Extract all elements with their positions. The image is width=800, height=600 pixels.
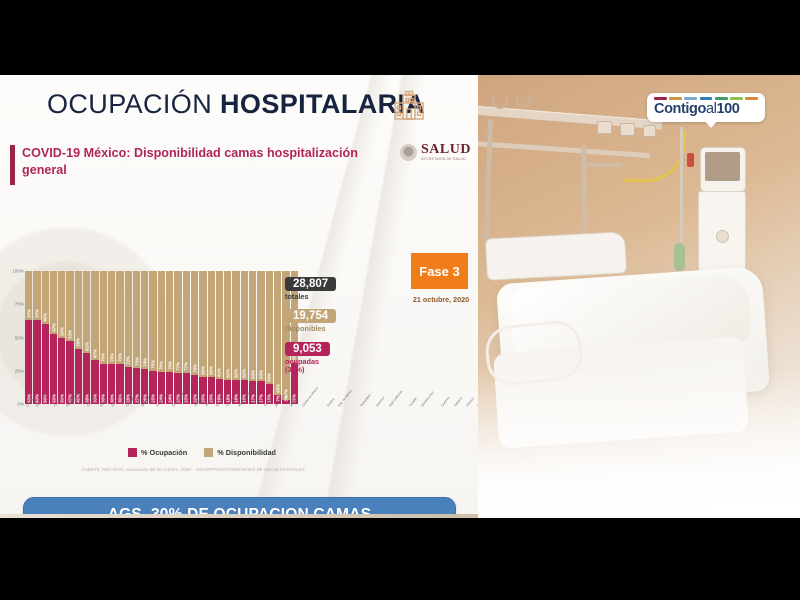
bar-segment-disponibilidad: 53%	[66, 271, 73, 341]
contigo-word-2: al	[706, 101, 717, 117]
bar-segment-disponibilidad: 77%	[183, 271, 190, 373]
chart-bar: 62%38%	[83, 271, 90, 404]
chart-source-note: FUENTE: RED IRAG, acumulado del 20 octub…	[82, 467, 412, 472]
photo-monitor-knob	[716, 230, 729, 243]
bar-label-disponibilidad: 82%	[234, 369, 239, 378]
photo-bed-headboard	[485, 231, 627, 280]
legend-swatch	[128, 448, 137, 457]
bar-label-disponibilidad: 81%	[217, 368, 222, 377]
logo-color-bar	[669, 97, 682, 100]
legend-label: % Disponibilidad	[217, 448, 276, 457]
photo-red-clip	[687, 153, 694, 167]
contigo-color-bars	[654, 97, 758, 100]
bar-segment-disponibilidad: 76%	[158, 271, 165, 372]
bar-segment-disponibilidad: 93%	[274, 271, 281, 395]
bar-segment-disponibilidad: 82%	[224, 271, 231, 380]
bar-label-disponibilidad: 78%	[192, 364, 197, 373]
bar-segment-disponibilidad: 73%	[133, 271, 140, 368]
bar-label-disponibilidad: 53%	[68, 331, 73, 340]
salud-logo: SALUD SECRETARÍA DE SALUD	[400, 143, 471, 161]
bar-label-disponibilidad: 77%	[184, 363, 189, 372]
bar-segment-disponibilidad: 82%	[232, 271, 239, 380]
status-badge-fase: Fase 3	[411, 253, 468, 289]
chart-bar: 40%60%	[42, 271, 49, 404]
bar-label-disponibilidad: 73%	[134, 357, 139, 366]
legend-label: % Ocupación	[141, 448, 187, 457]
bar-segment-disponibilidad: 37%	[33, 271, 40, 320]
logo-color-bar	[745, 97, 758, 100]
stat-value: 28,807	[285, 277, 336, 291]
bar-label-disponibilidad: 76%	[159, 361, 164, 370]
y-axis-tick: 0%	[17, 402, 24, 407]
bar-label-disponibilidad: 70%	[117, 353, 122, 362]
bar-segment-ocupacion: 63%	[33, 320, 40, 404]
logo-color-bar	[730, 97, 743, 100]
chart-y-axis: 0%25%50%75%100%	[8, 271, 25, 404]
chart-bar: 37%63%	[25, 271, 32, 404]
salud-name: SALUD	[421, 143, 471, 157]
chart-bar: 82%18%	[224, 271, 231, 404]
contigo-al-100-logo: Contigoal100	[647, 93, 765, 122]
chart-bar: 75%25%	[149, 271, 156, 404]
slide-date: 21 octubre, 2020	[406, 295, 476, 304]
chart-bar: 67%33%	[91, 271, 98, 404]
bar-label-disponibilidad: 76%	[167, 361, 172, 370]
bar-label-disponibilidad: 85%	[267, 373, 272, 382]
stat-callouts: 28,807totales19,754disponibles9,053ocupa…	[285, 274, 405, 380]
stat-totales: 28,807totales	[285, 274, 405, 301]
stat-value: 19,754	[285, 309, 336, 323]
screenshot-root: OCUPACIÓN HOSPITALARIA	[0, 0, 800, 600]
contigo-word-3: 100	[716, 101, 739, 117]
presentation-slide: OCUPACIÓN HOSPITALARIA	[0, 75, 478, 518]
y-axis-tick: 50%	[15, 335, 24, 340]
chart-bar: 50%50%	[58, 271, 65, 404]
bar-segment-disponibilidad: 81%	[216, 271, 223, 379]
chart-bar: 72%28%	[125, 271, 132, 404]
chart-bar: 77%23%	[174, 271, 181, 404]
bar-segment-disponibilidad: 62%	[83, 271, 90, 353]
bar-label-disponibilidad: 37%	[26, 309, 31, 318]
stat-caption: disponibles	[285, 325, 405, 333]
chart-bar: 70%30%	[116, 271, 123, 404]
mexico-emblem-icon	[400, 144, 417, 161]
contigo-wordmark: Contigoal100	[654, 102, 758, 117]
page-title: OCUPACIÓN HOSPITALARIA	[47, 89, 425, 120]
photo-green-bag	[674, 243, 685, 271]
bar-label-disponibilidad: 62%	[84, 343, 89, 352]
bar-segment-disponibilidad: 70%	[108, 271, 115, 364]
bar-segment-disponibilidad: 59%	[75, 271, 82, 349]
hospital-building-icon	[392, 89, 426, 128]
chart-legend: % Ocupación% Disponibilidad	[128, 448, 276, 457]
logo-color-bar	[654, 97, 667, 100]
chart-bar: 78%22%	[191, 271, 198, 404]
logo-color-bar	[700, 97, 713, 100]
chart-plot-area: 37%63%37%63%40%60%47%53%50%50%53%47%59%4…	[25, 271, 298, 404]
bar-segment-disponibilidad: 37%	[25, 271, 32, 320]
stat-disponibles: 19,754disponibles	[285, 306, 405, 333]
bar-segment-disponibilidad: 67%	[91, 271, 98, 360]
bar-segment-disponibilidad: 78%	[191, 271, 198, 375]
chart-bar: 70%30%	[108, 271, 115, 404]
logo-color-bar	[715, 97, 728, 100]
bar-segment-disponibilidad: 40%	[42, 271, 49, 324]
chart-bar: 81%19%	[216, 271, 223, 404]
chart: 0%25%50%75%100% 37%63%37%63%40%60%47%53%…	[8, 271, 298, 419]
slide-header: OCUPACIÓN HOSPITALARIA	[0, 75, 478, 137]
y-axis-tick: 75%	[15, 302, 24, 307]
chart-bar: 59%41%	[75, 271, 82, 404]
photo-monitor-screen	[705, 152, 740, 181]
bar-label-disponibilidad: 47%	[51, 323, 56, 332]
stat-ocupadas: 9,053ocupadas(31%)	[285, 339, 405, 375]
bar-segment-ocupacion: 50%	[58, 338, 65, 405]
chart-bar: 93%7%	[274, 271, 281, 404]
bar-segment-disponibilidad: 80%	[208, 271, 215, 377]
bar-label-disponibilidad: 50%	[59, 327, 64, 336]
chart-bar: 53%47%	[66, 271, 73, 404]
slide-footer-rule	[0, 514, 478, 518]
chart-bar: 76%24%	[158, 271, 165, 404]
video-content-band: OCUPACIÓN HOSPITALARIA	[0, 75, 800, 518]
photo-bottom-fade	[478, 368, 800, 518]
x-axis-tick-label: Baja California	[388, 390, 411, 414]
chart-bar: 83%17%	[249, 271, 256, 404]
chart-x-axis: ColimaNuevo LeónDurangoAguascalientesCoa…	[25, 405, 298, 419]
bar-segment-disponibilidad: 85%	[266, 271, 273, 384]
bar-label-disponibilidad: 80%	[209, 367, 214, 376]
chart-bar: 73%27%	[133, 271, 140, 404]
legend-swatch	[204, 448, 213, 457]
chart-bar: 80%20%	[199, 271, 206, 404]
hospital-room-photo: Contigoal100	[478, 75, 800, 518]
stat-value: 9,053	[285, 342, 330, 356]
bar-label-disponibilidad: 82%	[225, 369, 230, 378]
bar-label-disponibilidad: 75%	[151, 360, 156, 369]
bar-label-disponibilidad: 77%	[175, 363, 180, 372]
bar-label-disponibilidad: 37%	[34, 309, 39, 318]
bar-segment-ocupacion: 63%	[25, 320, 32, 404]
chart-bar: 83%17%	[257, 271, 264, 404]
bar-segment-disponibilidad: 77%	[174, 271, 181, 373]
bar-segment-disponibilidad: 70%	[116, 271, 123, 364]
x-axis-tick-label: Ciudad de México	[301, 386, 327, 414]
chart-bar: 85%15%	[266, 271, 273, 404]
bar-segment-disponibilidad: 76%	[166, 271, 173, 372]
bar-segment-disponibilidad: 80%	[199, 271, 206, 377]
bar-segment-ocupacion: 53%	[50, 334, 57, 404]
title-light: OCUPACIÓN	[47, 89, 220, 119]
bar-segment-disponibilidad: 82%	[241, 271, 248, 380]
chart-bar: 82%18%	[241, 271, 248, 404]
bar-segment-disponibilidad: 74%	[141, 271, 148, 369]
chart-bar: 82%18%	[232, 271, 239, 404]
bar-label-disponibilidad: 74%	[142, 359, 147, 368]
bar-segment-disponibilidad: 72%	[125, 271, 132, 367]
bar-label-disponibilidad: 67%	[93, 349, 98, 358]
bar-label-disponibilidad: 70%	[101, 353, 106, 362]
chart-bar: 37%63%	[33, 271, 40, 404]
stat-caption: totales	[285, 293, 405, 301]
bar-label-disponibilidad: 80%	[200, 367, 205, 376]
chart-bar: 74%26%	[141, 271, 148, 404]
x-axis-tick-label: Quintana Roo	[420, 390, 442, 413]
bar-segment-disponibilidad: 47%	[50, 271, 57, 334]
stat-caption: ocupadas(31%)	[285, 358, 405, 375]
x-axis-tick-label: Edo. de México	[337, 389, 361, 414]
legend-item: % Ocupación	[128, 448, 187, 457]
bar-label-disponibilidad: 72%	[126, 356, 131, 365]
chart-bar: 70%30%	[100, 271, 107, 404]
photo-gas-outlet	[597, 121, 612, 134]
chart-bar: 47%53%	[50, 271, 57, 404]
y-axis-tick: 25%	[15, 368, 24, 373]
y-axis-tick: 100%	[12, 269, 24, 274]
chart-bar: 80%20%	[208, 271, 215, 404]
bar-label-disponibilidad: 59%	[76, 339, 81, 348]
contigo-word-1: Contigo	[654, 101, 706, 117]
chart-subtitle: COVID-19 México: Disponibilidad camas ho…	[22, 145, 367, 178]
salud-wordmark: SALUD SECRETARÍA DE SALUD	[421, 143, 471, 161]
photo-wall-pipe-3	[586, 163, 622, 167]
chart-bar: 76%24%	[166, 271, 173, 404]
bar-segment-disponibilidad: 70%	[100, 271, 107, 364]
chart-bar: 77%23%	[183, 271, 190, 404]
logo-color-bar	[684, 97, 697, 100]
bar-label-disponibilidad: 83%	[258, 371, 263, 380]
salud-subname: SECRETARÍA DE SALUD	[421, 158, 471, 161]
legend-item: % Disponibilidad	[204, 448, 276, 457]
bar-segment-disponibilidad: 75%	[149, 271, 156, 371]
bar-label-disponibilidad: 70%	[109, 353, 114, 362]
title-accent-bar	[10, 145, 15, 185]
bar-label-disponibilidad: 83%	[250, 371, 255, 380]
bar-label-disponibilidad: 82%	[242, 369, 247, 378]
bar-label-disponibilidad: 93%	[275, 384, 280, 393]
bar-segment-disponibilidad: 83%	[249, 271, 256, 381]
bar-segment-disponibilidad: 50%	[58, 271, 65, 338]
bar-segment-disponibilidad: 83%	[257, 271, 264, 381]
bar-label-disponibilidad: 40%	[43, 313, 48, 322]
